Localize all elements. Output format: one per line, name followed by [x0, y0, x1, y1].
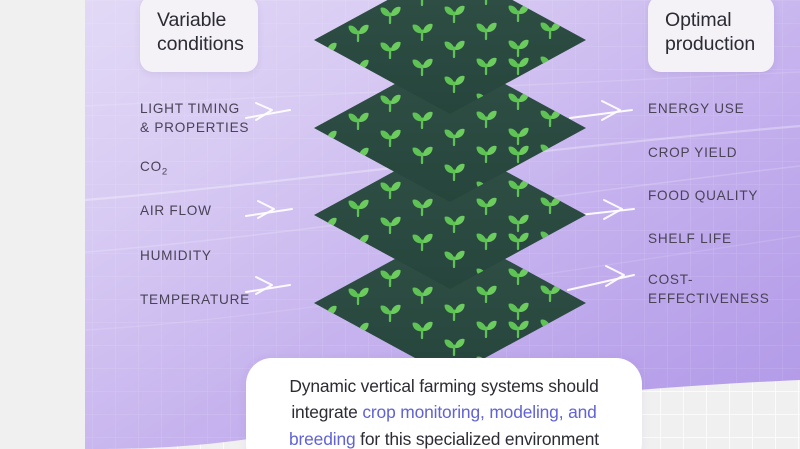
input-label-humidity: HUMIDITY	[140, 247, 212, 266]
output-label-line1: COST-	[648, 271, 770, 290]
input-label-line1: CO2	[140, 158, 167, 179]
input-label-air-flow: AIR FLOW	[140, 202, 212, 221]
tray-layer-1	[314, 0, 586, 114]
input-label-light-timing: LIGHT TIMING & PROPERTIES	[140, 100, 249, 138]
output-label-line1: ENERGY USE	[648, 100, 744, 119]
input-label-temperature: TEMPERATURE	[140, 291, 250, 310]
caption-box: Dynamic vertical farming systems should …	[246, 358, 642, 449]
optimal-production-header: Optimal production	[648, 0, 774, 72]
optimal-production-line1: Optimal	[665, 9, 757, 33]
input-label-co2: CO2	[140, 158, 167, 179]
input-label-line1: LIGHT TIMING	[140, 100, 249, 119]
output-label-line1: CROP YIELD	[648, 144, 737, 163]
output-label-cost-effectiveness: COST- EFFECTIVENESS	[648, 271, 770, 309]
variable-conditions-header: Variable conditions	[140, 0, 258, 72]
variable-conditions-line1: Variable	[157, 9, 241, 33]
caption-part2: for this specialized environment	[356, 429, 599, 449]
infographic-canvas: Variable conditions Optimal production L…	[0, 0, 800, 449]
output-label-shelf-life: SHELF LIFE	[648, 230, 732, 249]
output-label-food-quality: FOOD QUALITY	[648, 187, 758, 206]
output-label-line2: EFFECTIVENESS	[648, 290, 770, 309]
input-label-line2: & PROPERTIES	[140, 119, 249, 138]
input-label-line1: TEMPERATURE	[140, 291, 250, 310]
output-label-crop-yield: CROP YIELD	[648, 144, 737, 163]
input-label-line1: HUMIDITY	[140, 247, 212, 266]
output-label-line1: SHELF LIFE	[648, 230, 732, 249]
output-label-line1: FOOD QUALITY	[648, 187, 758, 206]
input-label-line1: AIR FLOW	[140, 202, 212, 221]
variable-conditions-line2: conditions	[157, 33, 241, 57]
output-label-energy-use: ENERGY USE	[648, 100, 744, 119]
optimal-production-line2: production	[665, 33, 757, 57]
